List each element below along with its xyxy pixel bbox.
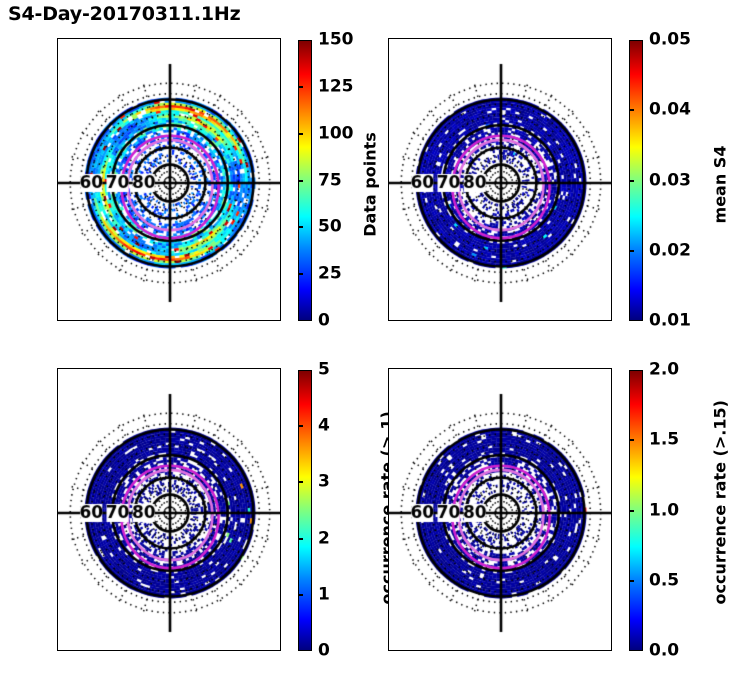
- colorbar-tick-mark: [629, 180, 634, 182]
- colorbar-tick-label: 150: [318, 32, 354, 49]
- colorbar-mean-s4: 0.010.020.030.040.05: [629, 40, 643, 321]
- colorbar-title-mean-s4: mean S4: [711, 125, 730, 245]
- colorbar-gradient-occurrence-rate-gt-0p1: [298, 370, 312, 651]
- colorbar-tick-mark: [629, 580, 634, 582]
- polar-map-mean-s4: [388, 38, 612, 321]
- colorbar-tick-mark: [298, 133, 303, 135]
- polar-map-occurrence-rate-gt-0p1: [57, 368, 281, 651]
- panel-occurrence-rate-gt-0p15: [388, 368, 612, 651]
- colorbar-tick-label: 0.02: [649, 242, 691, 259]
- panel-data-points: [57, 38, 281, 321]
- polar-map-data-points: [57, 38, 281, 321]
- colorbar-title-data-points: Data points: [361, 125, 380, 245]
- colorbar-tick-mark: [298, 538, 303, 540]
- colorbar-tick-mark: [629, 510, 634, 512]
- colorbar-tick-label: 125: [318, 78, 354, 95]
- panel-occurrence-rate-gt-0p1: [57, 368, 281, 651]
- colorbar-tick-label: 0.03: [649, 172, 691, 189]
- page-title: S4-Day-20170311.1Hz: [8, 3, 240, 25]
- colorbar-data-points: 0255075100125150: [298, 40, 312, 321]
- panel-mean-s4: [388, 38, 612, 321]
- colorbar-tick-mark: [298, 425, 303, 427]
- polar-map-occurrence-rate-gt-0p15: [388, 368, 612, 651]
- colorbar-tick-label: 0.04: [649, 102, 691, 119]
- colorbar-tick-label: 4: [318, 418, 330, 435]
- colorbar-tick-label: 75: [318, 172, 342, 189]
- colorbar-tick-label: 25: [318, 266, 342, 283]
- colorbar-tick-mark: [298, 86, 303, 88]
- colorbar-tick-label: 2: [318, 530, 330, 547]
- colorbar-tick-mark: [298, 273, 303, 275]
- colorbar-tick-label: 50: [318, 219, 342, 236]
- colorbar-tick-label: 0: [318, 643, 330, 660]
- colorbar-title-occurrence-rate-gt-0p15: occurrence rate (>.15): [711, 425, 730, 605]
- colorbar-tick-mark: [298, 226, 303, 228]
- colorbar-tick-label: 0.01: [649, 313, 691, 330]
- colorbar-tick-label: 1.0: [649, 502, 679, 519]
- colorbar-tick-mark: [298, 481, 303, 483]
- colorbar-tick-label: 3: [318, 474, 330, 491]
- colorbar-tick-label: 0.5: [649, 572, 679, 589]
- colorbar-occurrence-rate-gt-0p15: 0.00.51.01.52.0: [629, 370, 643, 651]
- colorbar-tick-label: 2.0: [649, 362, 679, 379]
- colorbar-tick-mark: [298, 594, 303, 596]
- colorbar-tick-label: 0.0: [649, 643, 679, 660]
- colorbar-tick-mark: [629, 250, 634, 252]
- colorbar-tick-label: 0: [318, 313, 330, 330]
- colorbar-tick-label: 1: [318, 586, 330, 603]
- colorbar-occurrence-rate-gt-0p1: 012345: [298, 370, 312, 651]
- colorbar-tick-label: 0.05: [649, 32, 691, 49]
- colorbar-tick-label: 100: [318, 125, 354, 142]
- colorbar-tick-mark: [629, 109, 634, 111]
- colorbar-tick-label: 5: [318, 362, 330, 379]
- colorbar-tick-label: 1.5: [649, 432, 679, 449]
- colorbar-tick-mark: [629, 439, 634, 441]
- colorbar-tick-mark: [298, 180, 303, 182]
